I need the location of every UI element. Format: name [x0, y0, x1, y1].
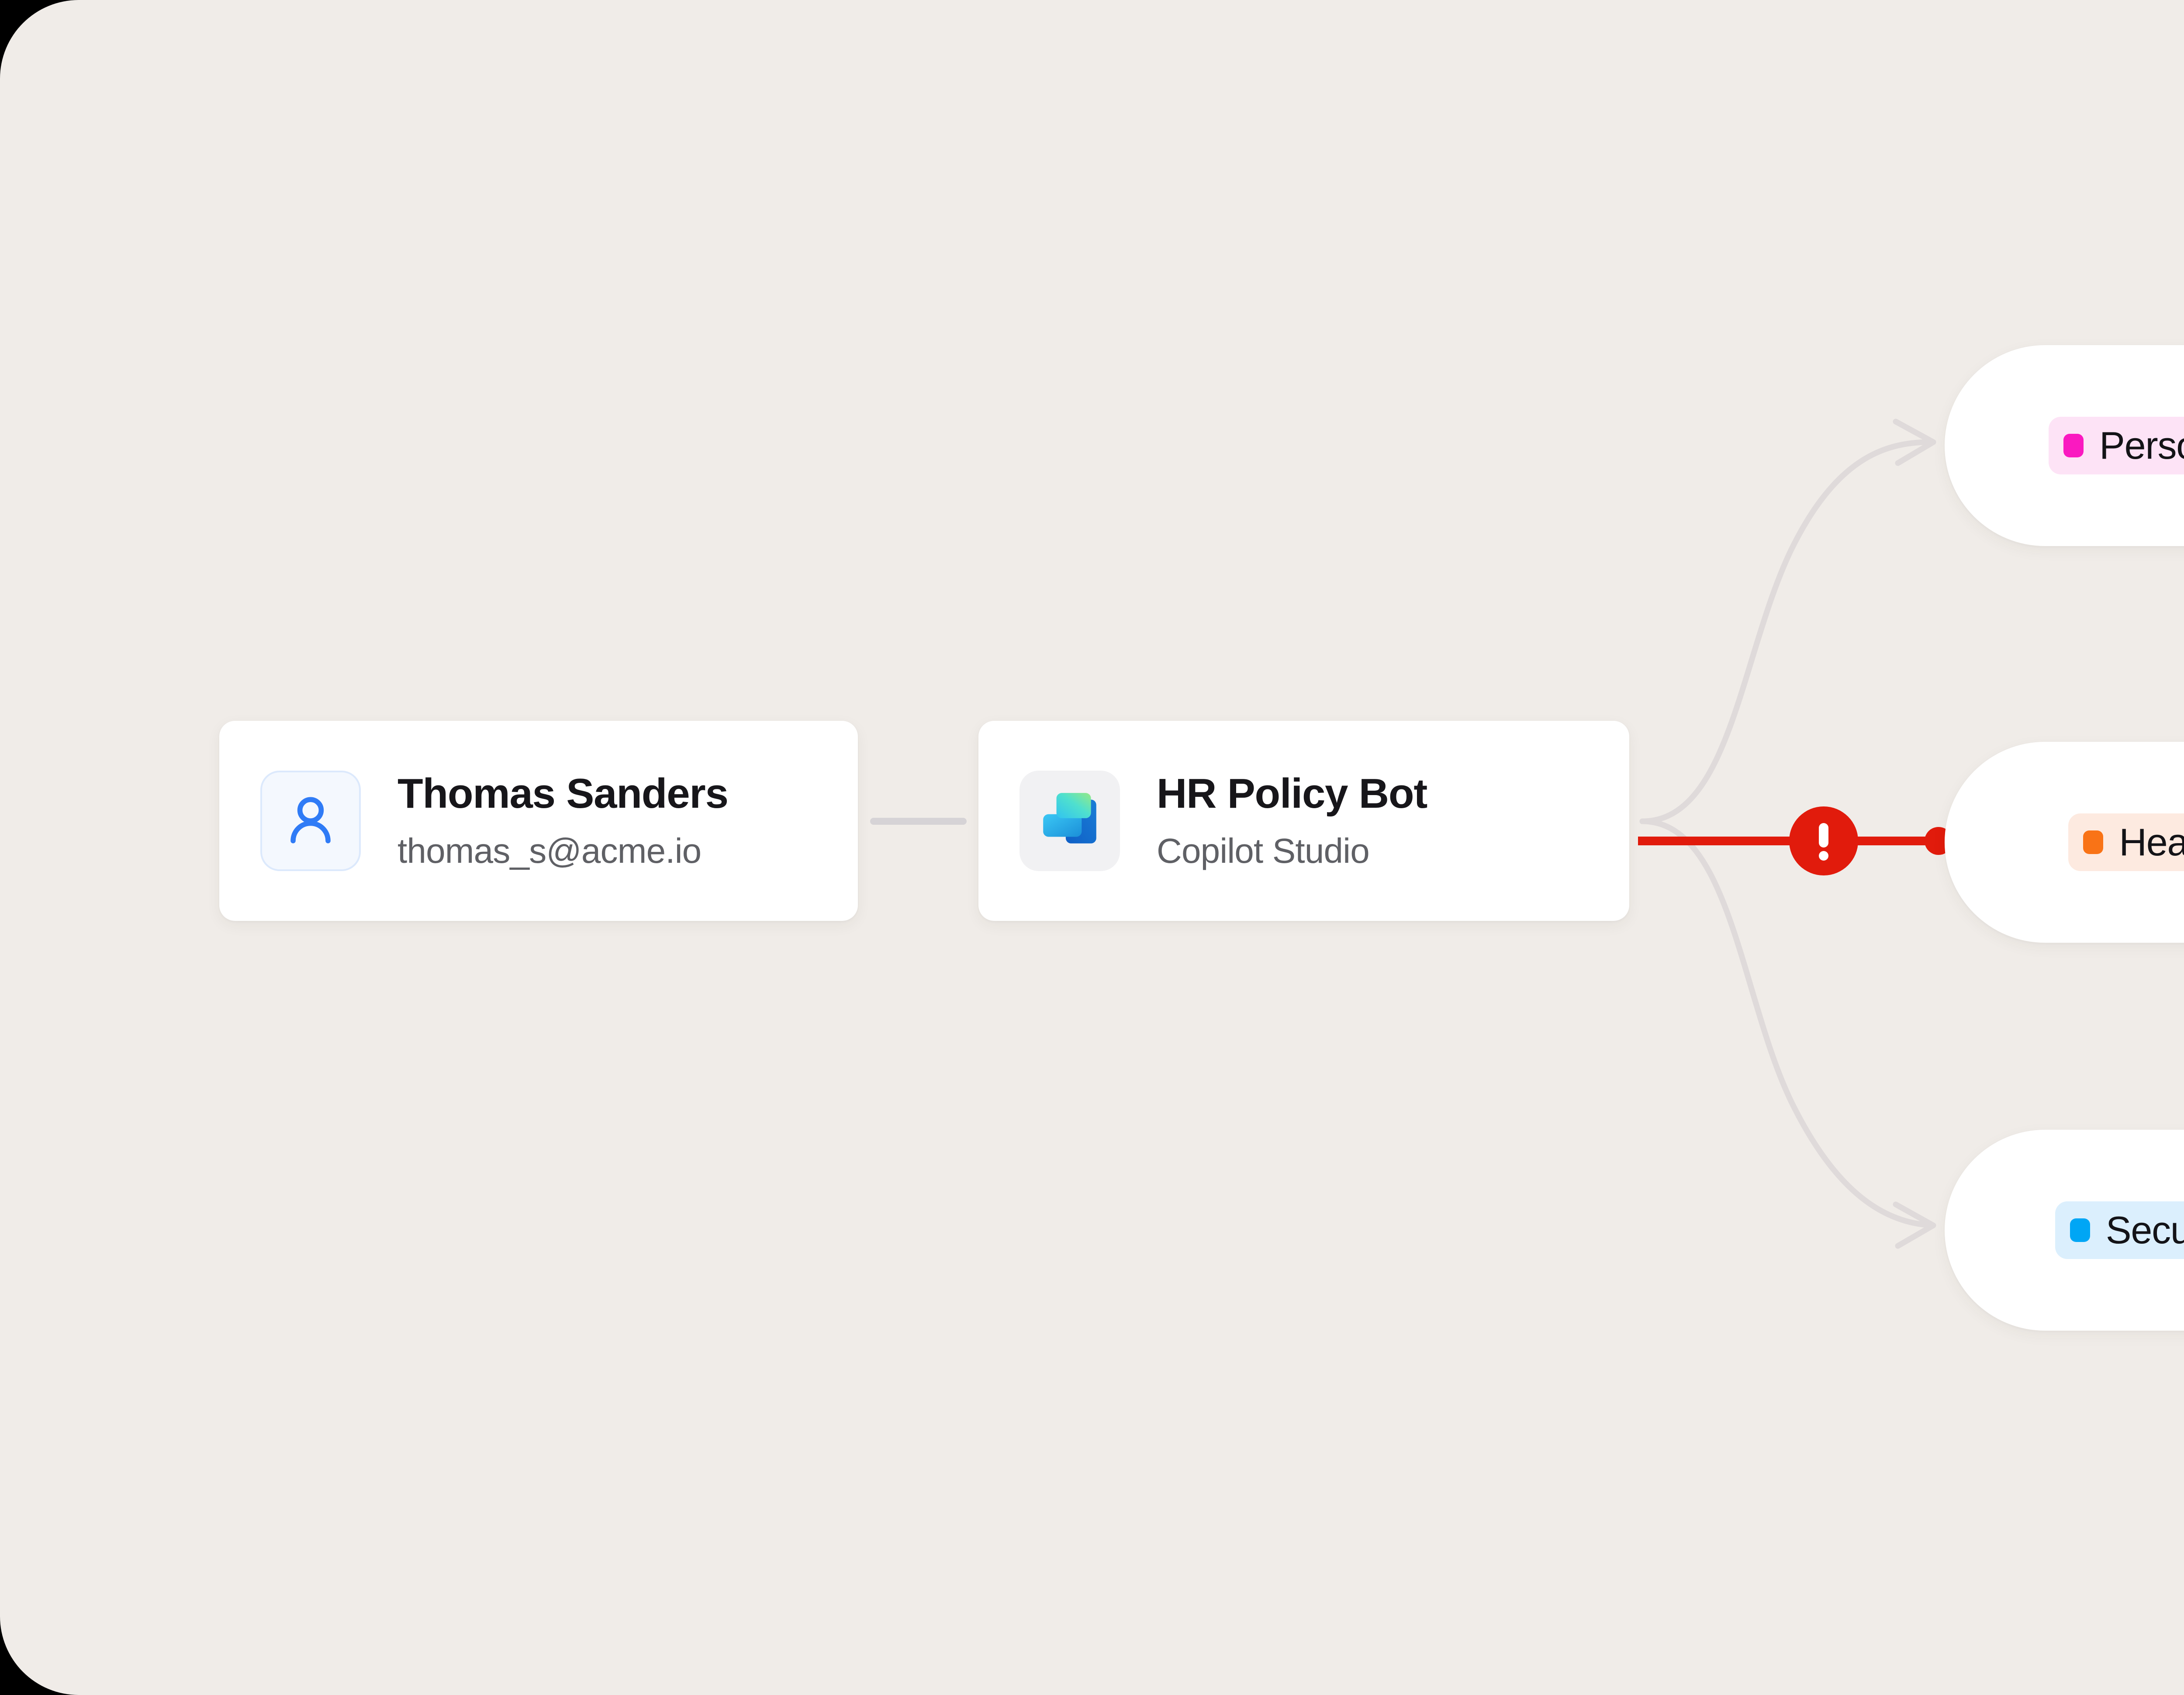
- scope-chip-personal: Personal: [2049, 417, 2184, 474]
- scope-dot-security: [2070, 1218, 2090, 1242]
- person-text-block: Thomas Sanders thomas_s@acme.io: [397, 771, 728, 870]
- person-node[interactable]: Thomas Sanders thomas_s@acme.io: [219, 721, 858, 921]
- exclamation-stem: [1819, 823, 1828, 847]
- person-name: Thomas Sanders: [397, 771, 728, 816]
- copilot-studio-icon: [1037, 788, 1103, 854]
- scope-node-personal[interactable]: Personal: [1945, 345, 2184, 546]
- scope-chip-health: Health: [2068, 813, 2184, 871]
- diagram-canvas: Thomas Sanders thomas_s@acme.io: [0, 0, 2184, 1695]
- scope-dot-health: [2083, 830, 2103, 854]
- agent-platform: Copilot Studio: [1157, 832, 1427, 870]
- agent-text-block: HR Policy Bot Copilot Studio: [1157, 771, 1427, 870]
- exclamation-dot: [1819, 851, 1828, 861]
- alert-exclamation-icon[interactable]: [1789, 806, 1858, 875]
- scope-node-security[interactable]: Security: [1945, 1130, 2184, 1331]
- scope-label-personal: Personal: [2099, 426, 2184, 465]
- agent-name: HR Policy Bot: [1157, 771, 1427, 816]
- scope-chip-security: Security: [2055, 1201, 2184, 1259]
- scope-label-health: Health: [2119, 823, 2184, 861]
- avatar: [260, 771, 361, 871]
- scope-node-health[interactable]: Health: [1945, 742, 2184, 943]
- agent-node[interactable]: HR Policy Bot Copilot Studio: [978, 721, 1629, 921]
- person-email: thomas_s@acme.io: [397, 832, 728, 870]
- user-outline-icon: [278, 788, 343, 854]
- scope-label-security: Security: [2106, 1211, 2184, 1249]
- scope-dot-personal: [2063, 434, 2084, 457]
- edge-agent-to-security: [1642, 821, 1933, 1225]
- arrowhead-personal-icon: [1896, 422, 1933, 463]
- arrowhead-security-icon: [1896, 1204, 1933, 1246]
- app-icon-container: [1019, 771, 1120, 871]
- edge-agent-to-personal: [1642, 442, 1933, 821]
